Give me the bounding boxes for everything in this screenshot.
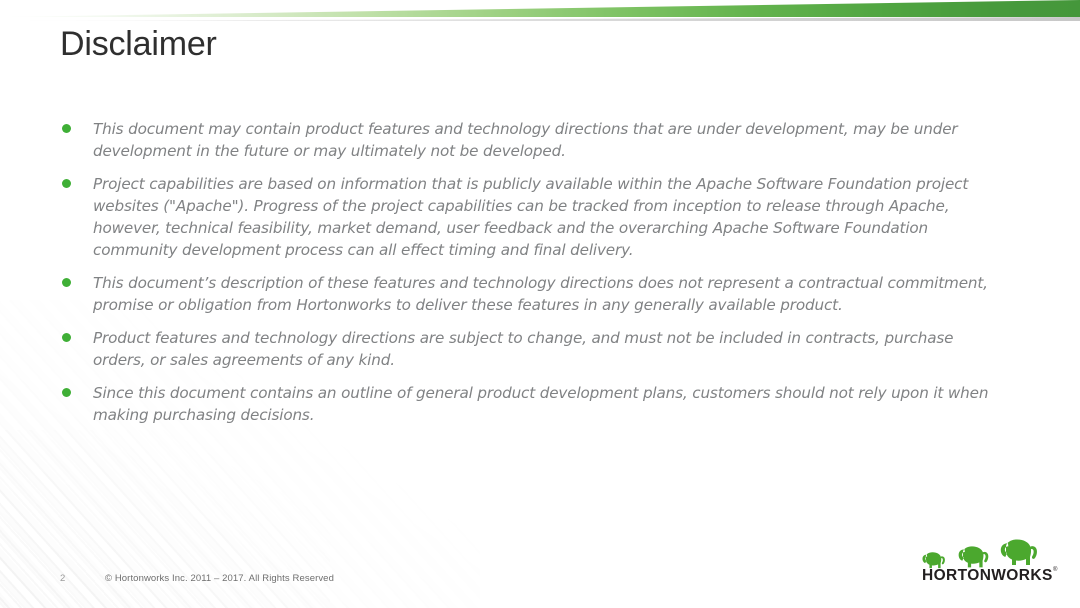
elephant-medium-icon <box>959 546 989 567</box>
elephant-large-icon <box>1001 540 1037 566</box>
registered-trademark-icon: ® <box>1053 566 1058 573</box>
list-item: Product features and technology directio… <box>62 327 1002 371</box>
elephant-small-icon <box>922 552 944 568</box>
elephant-icon-group <box>922 540 1036 569</box>
green-gradient-band <box>0 0 1080 17</box>
logo-wordmark: HORTONWORKS <box>922 567 1053 584</box>
header-accent-band <box>0 0 1080 22</box>
page-title: Disclaimer <box>60 24 217 64</box>
bullet-text: This document may contain product featur… <box>93 118 1002 162</box>
list-item: Since this document contains an outline … <box>62 382 1002 426</box>
hortonworks-logo: HORTONWORKS ® <box>920 538 1065 584</box>
list-item: This document’s description of these fea… <box>62 272 1002 316</box>
bullet-text: Product features and technology directio… <box>93 327 1002 371</box>
copyright-notice: © Hortonworks Inc. 2011 – 2017. All Righ… <box>105 573 334 584</box>
disclaimer-bullet-list: This document may contain product featur… <box>62 118 1002 437</box>
bullet-dot-icon <box>62 179 71 188</box>
bullet-dot-icon <box>62 388 71 397</box>
page-number: 2 <box>60 573 65 584</box>
slide-canvas: Disclaimer This document may contain pro… <box>0 0 1080 608</box>
bullet-dot-icon <box>62 333 71 342</box>
list-item: This document may contain product featur… <box>62 118 1002 162</box>
bullet-dot-icon <box>62 278 71 287</box>
bullet-text: Since this document contains an outline … <box>93 382 1002 426</box>
list-item: Project capabilities are based on inform… <box>62 173 1002 261</box>
bullet-text: This document’s description of these fea… <box>93 272 1002 316</box>
bullet-text: Project capabilities are based on inform… <box>93 173 1002 261</box>
bullet-dot-icon <box>62 124 71 133</box>
